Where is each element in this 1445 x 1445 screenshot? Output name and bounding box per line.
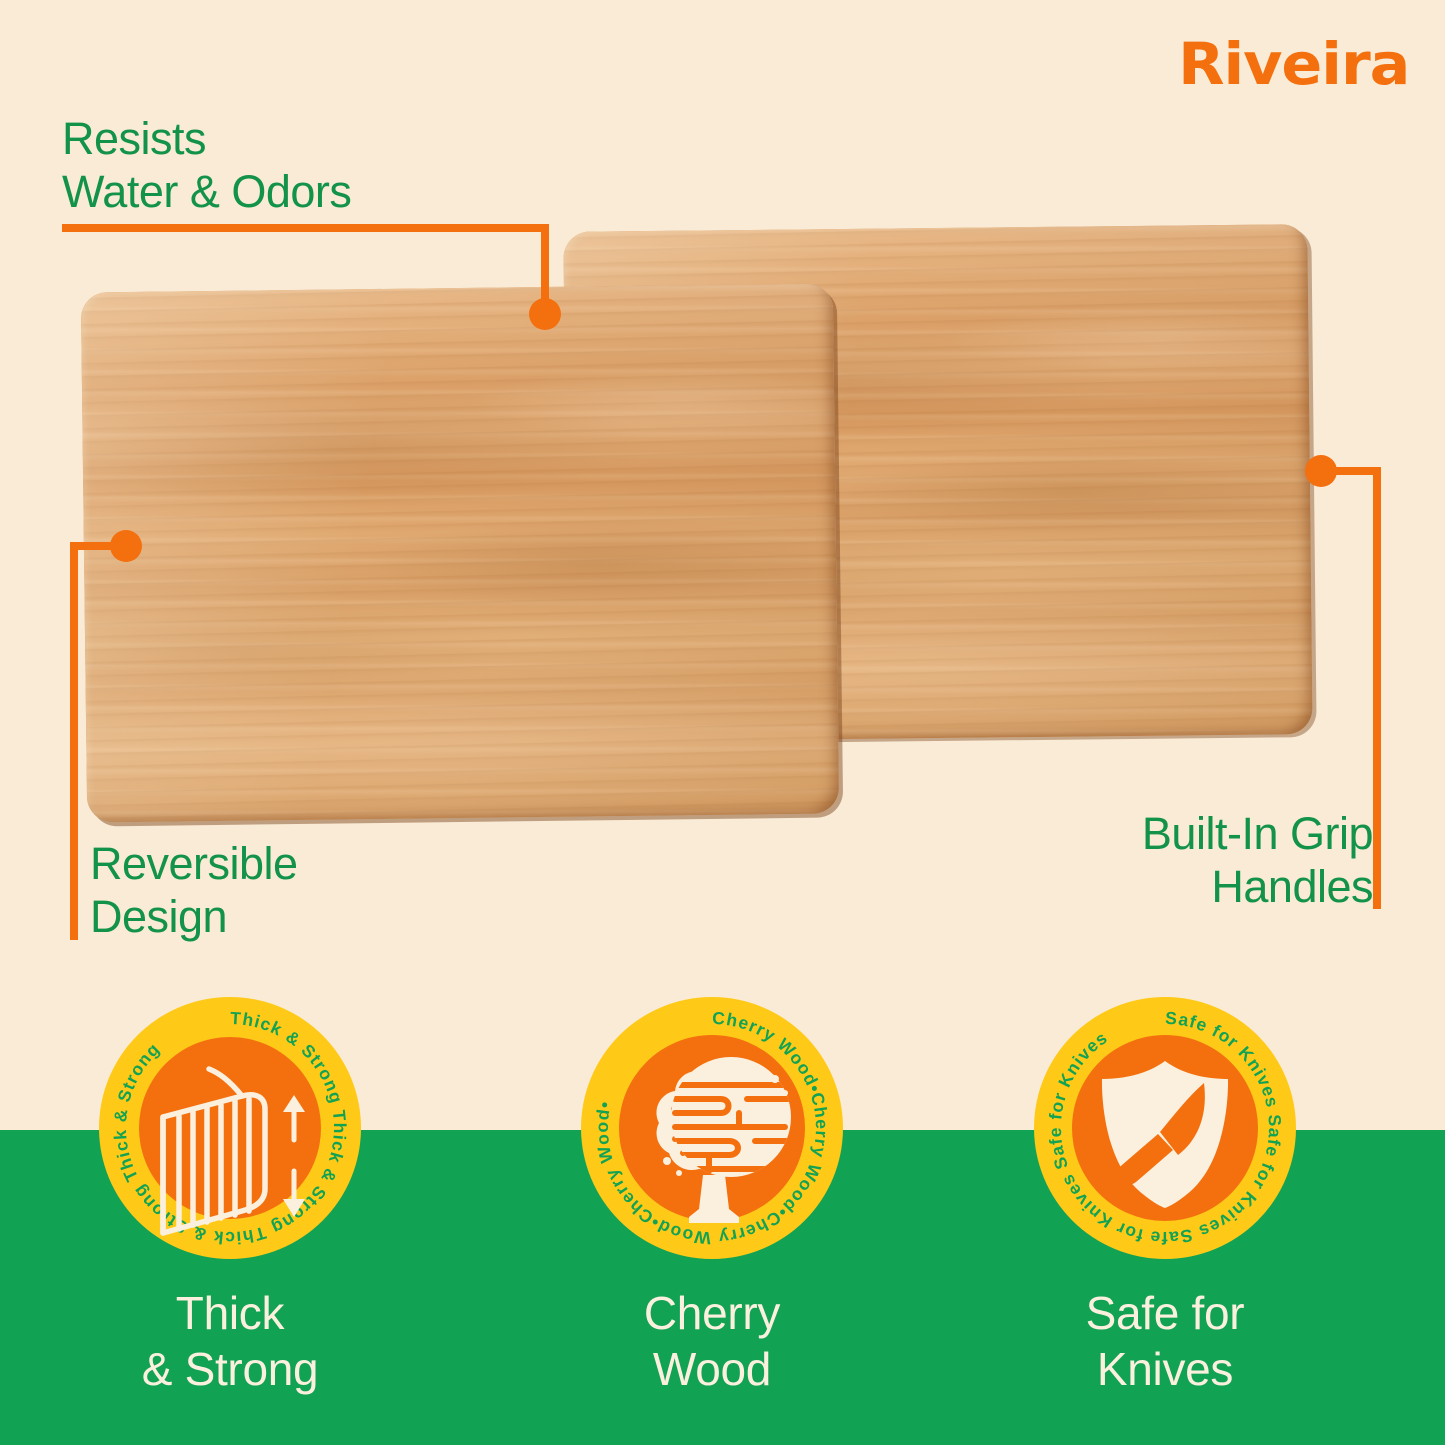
front-cutting-board (81, 283, 839, 822)
board-edge-shading (81, 283, 839, 822)
badge-cherry-wood: Cherry Wood•Cherry Wood•Cherry Wood•Cher… (579, 995, 845, 1261)
callout-left-bar (70, 542, 78, 940)
callout-built-in-grip-handles: Built-In Grip Handles (1142, 808, 1373, 913)
brand-logo: Riveira (1178, 30, 1409, 98)
callout-reversible-design: Reversible Design (90, 838, 298, 943)
caption-thick-and-strong: Thick & Strong (60, 1285, 400, 1397)
callout-right-bar (1373, 467, 1381, 909)
infographic-canvas: Riveira Resists Water & Odors Reversible… (0, 0, 1445, 1445)
badge-safe-for-knives: Safe for Knives Safe for Knives Safe for… (1032, 995, 1298, 1261)
caption-cherry-wood: Cherry Wood (542, 1285, 882, 1397)
badge-thick-and-strong: Thick & Strong Thick & Strong Thick & St… (97, 995, 363, 1261)
callout-top-marker-dot (529, 298, 561, 330)
callout-top-leader-line (541, 224, 549, 309)
callout-top-underline (62, 224, 549, 232)
caption-safe-for-knives: Safe for Knives (995, 1285, 1335, 1397)
callout-resists-water-odors: Resists Water & Odors (62, 113, 351, 218)
